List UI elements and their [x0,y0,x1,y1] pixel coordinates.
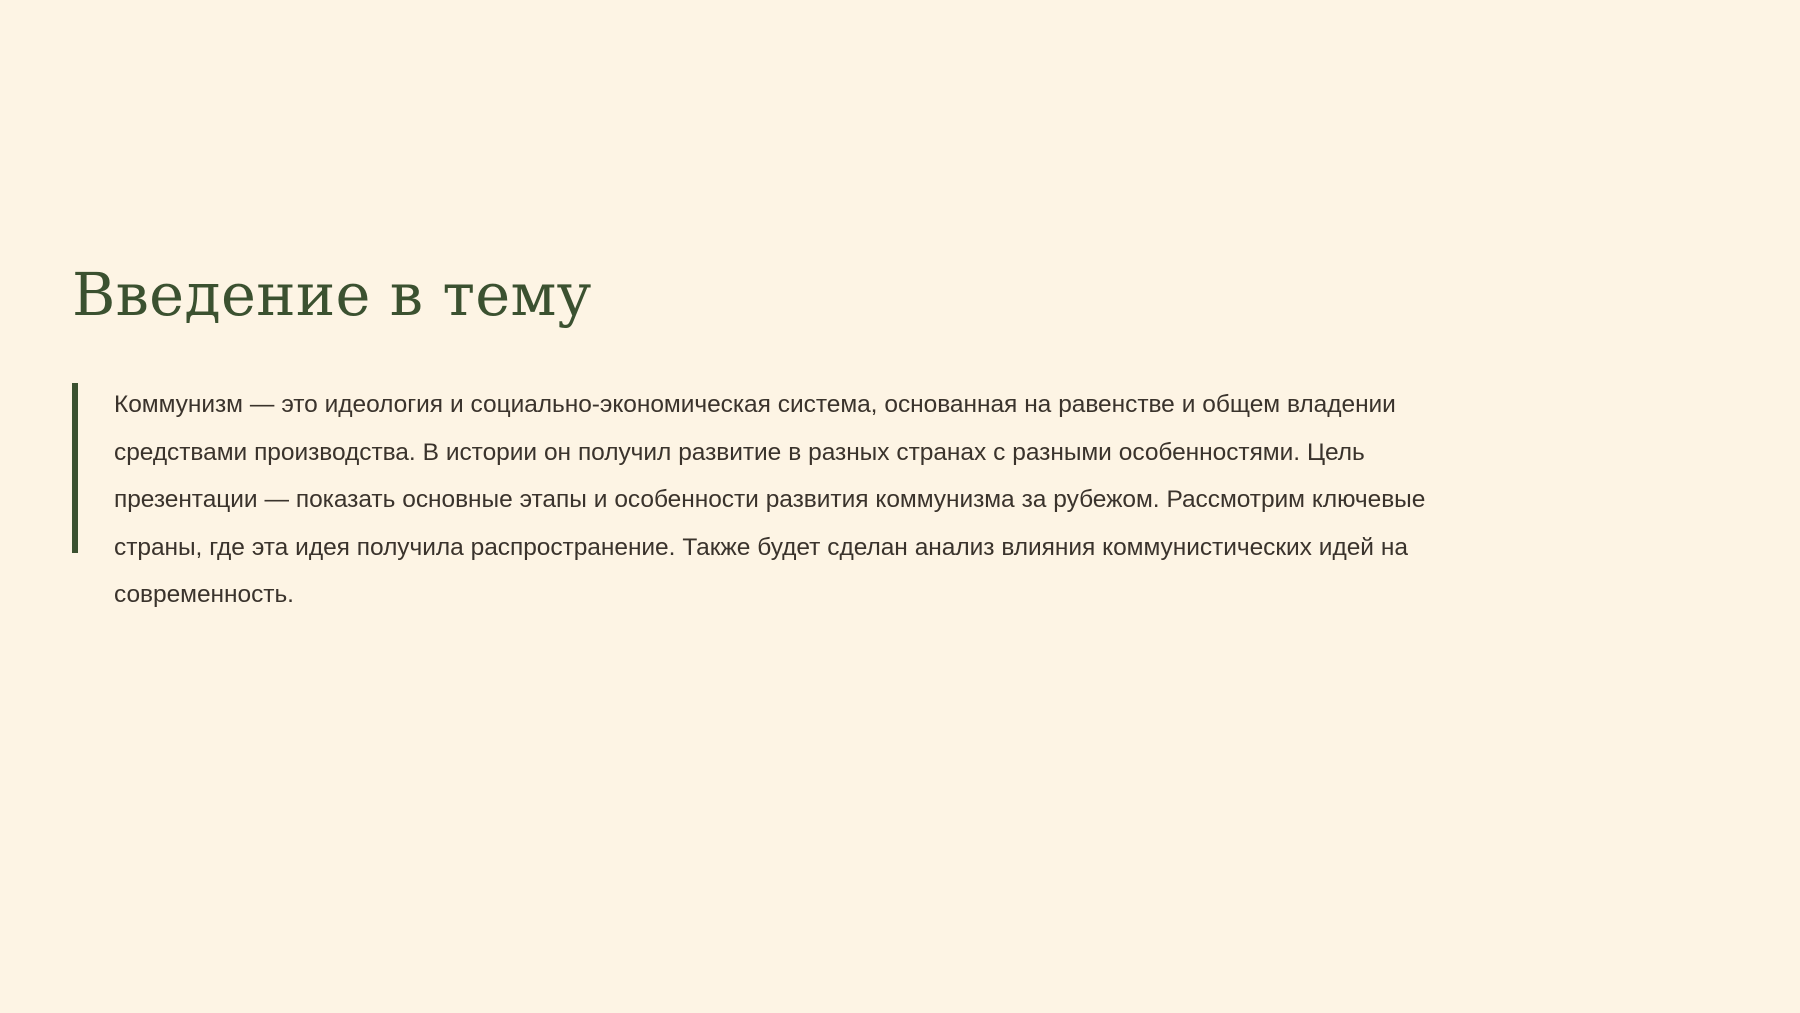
page-title: Введение в тему [72,262,1752,328]
slide-content: Введение в тему Коммунизм — это идеологи… [72,262,1752,619]
body-quote-block: Коммунизм — это идеология и социально-эк… [72,381,1752,619]
body-paragraph: Коммунизм — это идеология и социально-эк… [114,381,1509,619]
accent-bar [72,383,78,553]
presentation-slide: Введение в тему Коммунизм — это идеологи… [0,0,1800,1013]
